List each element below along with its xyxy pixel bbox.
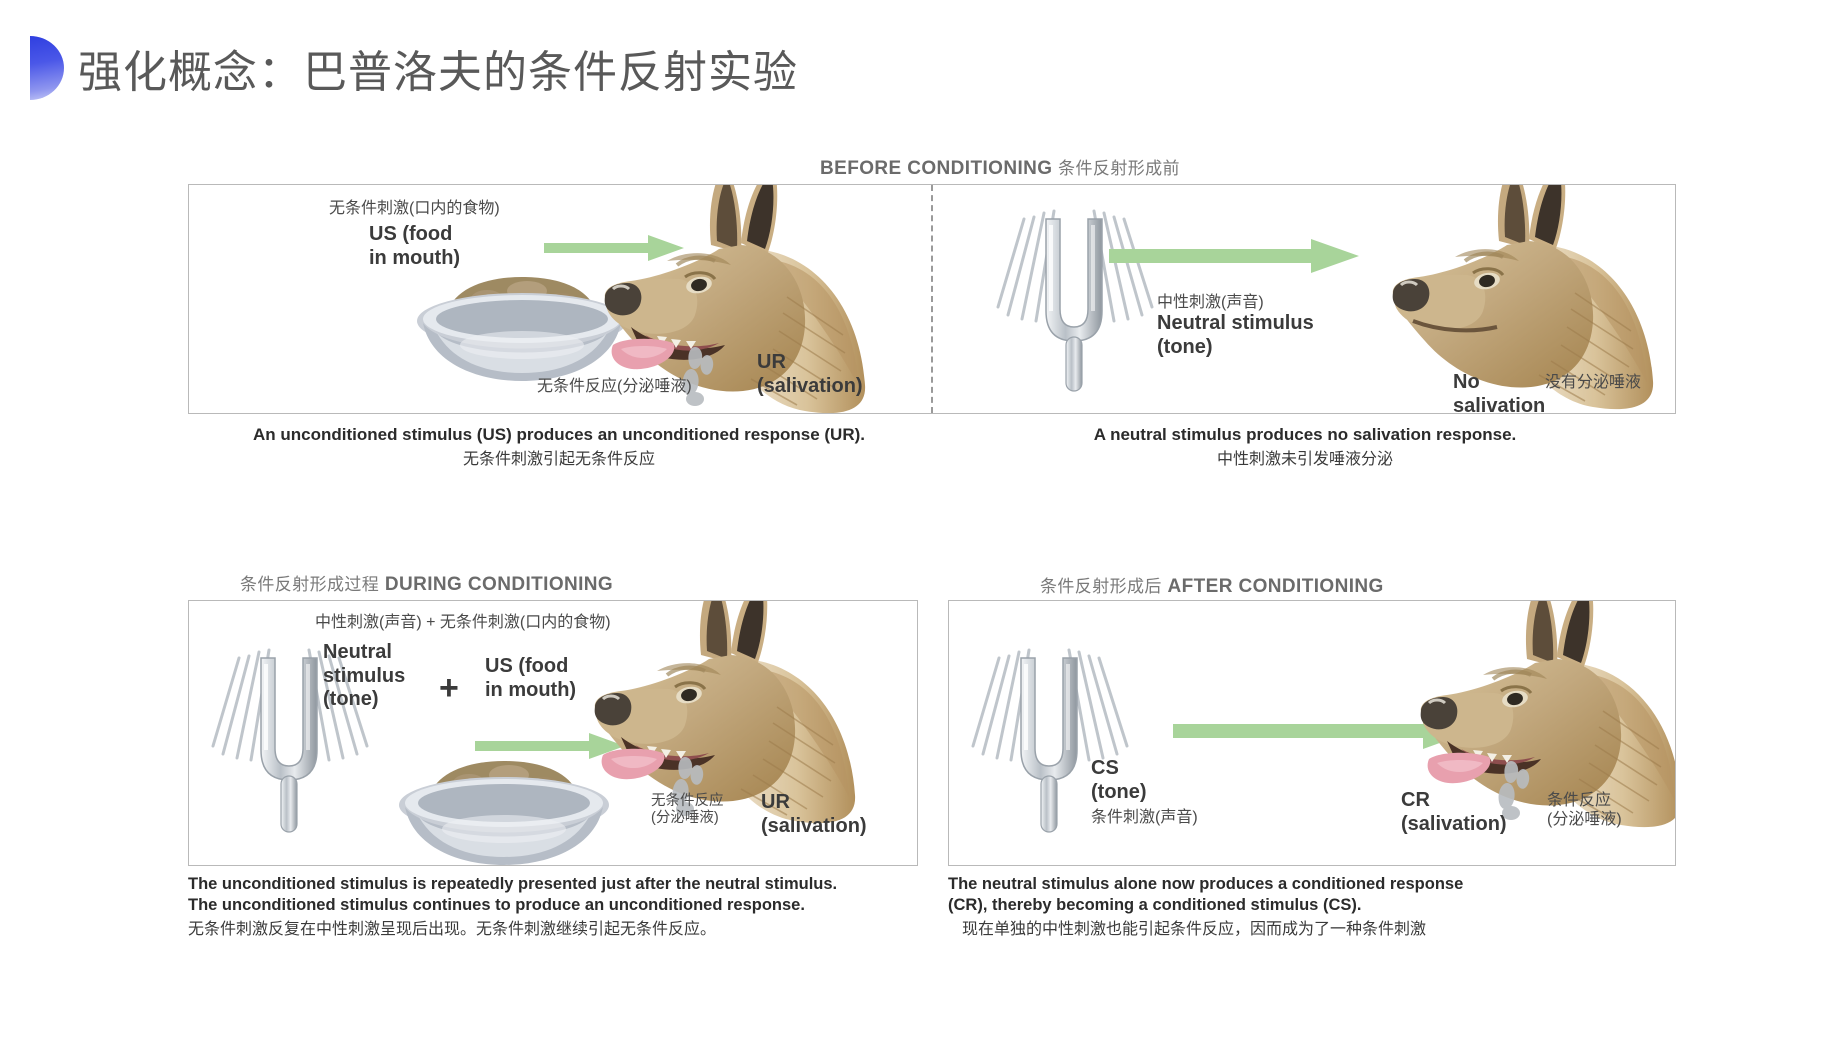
during-caption-cn: 无条件刺激反复在中性刺激呈现后出现。无条件刺激继续引起无条件反应。 bbox=[188, 920, 928, 940]
after-header-en: AFTER CONDITIONING bbox=[1168, 576, 1384, 597]
during-conditioning-panel: 中性刺激(声音) + 无条件刺激(口内的食物) Neutral stimulus… bbox=[188, 600, 918, 866]
during-us-2: in mouth) bbox=[485, 679, 576, 703]
during-header-cn: 条件反射形成过程 bbox=[240, 575, 379, 594]
before-left-caption: An unconditioned stimulus (US) produces … bbox=[188, 424, 930, 470]
before-right-caption-en: A neutral stimulus produces no salivatio… bbox=[1094, 425, 1517, 444]
cr-cn-2: (分泌唾液) bbox=[1547, 810, 1622, 829]
during-ur-cn-2: (分泌唾液) bbox=[651, 810, 724, 827]
during-caption: The unconditioned stimulus is repeatedly… bbox=[188, 874, 928, 940]
title-bar: 强化概念：巴普洛夫的条件反射实验 bbox=[0, 0, 1846, 130]
ur-label-left-cn: 无条件反应(分泌唾液) bbox=[537, 377, 692, 396]
ns-cn: 中性刺激(声音) bbox=[1157, 293, 1314, 312]
cs-en-2: (tone) bbox=[1091, 781, 1198, 805]
before-conditioning-header: BEFORE CONDITIONING 条件反射形成前 bbox=[820, 154, 1180, 180]
during-conditioning-header: 条件反射形成过程 DURING CONDITIONING bbox=[240, 570, 613, 596]
cs-en-1: CS bbox=[1091, 757, 1198, 781]
cr-cn-1: 条件反应 bbox=[1547, 791, 1622, 810]
during-us-label: US (food in mouth) bbox=[485, 655, 576, 702]
cr-label-en: CR (salivation) bbox=[1401, 789, 1507, 836]
us-label-left: 无条件刺激(口内的食物) bbox=[329, 199, 500, 218]
tuning-fork-icon bbox=[984, 195, 1174, 395]
during-us-1: US (food bbox=[485, 655, 576, 679]
during-stim-cn-text: 中性刺激(声音) + 无条件刺激(口内的食物) bbox=[315, 613, 611, 632]
during-ur-cn: 无条件反应 (分泌唾液) bbox=[651, 793, 724, 828]
cs-label: CS (tone) 条件刺激(声音) bbox=[1091, 757, 1198, 827]
during-ns-3: (tone) bbox=[323, 688, 405, 712]
before-right-caption: A neutral stimulus produces no salivatio… bbox=[934, 424, 1676, 470]
during-stimulus-cn: 中性刺激(声音) + 无条件刺激(口内的食物) bbox=[315, 613, 611, 632]
before-conditioning-panel: 无条件刺激(口内的食物) US (food in mouth) bbox=[188, 184, 1676, 414]
cr-label-cn: 条件反应 (分泌唾液) bbox=[1547, 791, 1622, 829]
after-conditioning-header: 条件反射形成后 AFTER CONDITIONING bbox=[1040, 572, 1384, 598]
ur-label-left-en: UR (salivation) bbox=[757, 351, 863, 398]
after-header-cn: 条件反射形成后 bbox=[1040, 577, 1162, 596]
before-header-en: BEFORE CONDITIONING bbox=[820, 158, 1052, 179]
during-ur-cn-1: 无条件反应 bbox=[651, 793, 724, 810]
no-sal-cn: 没有分泌唾液 bbox=[1545, 373, 1641, 392]
pavlov-conditioning-figure: BEFORE CONDITIONING 条件反射形成前 无条件刺激(口内的食物)… bbox=[0, 130, 1846, 1060]
no-salivation-label-en: No salivation bbox=[1453, 371, 1545, 414]
us-label-en-2: in mouth) bbox=[369, 247, 460, 271]
before-right-caption-cn: 中性刺激未引发唾液分泌 bbox=[934, 450, 1676, 470]
plus-sign: + bbox=[439, 669, 459, 708]
us-label-left-en: US (food in mouth) bbox=[369, 223, 460, 270]
during-ur-en-1: UR bbox=[761, 791, 867, 815]
before-header-cn: 条件反射形成前 bbox=[1058, 159, 1180, 178]
ur-cn: 无条件反应(分泌唾液) bbox=[537, 377, 692, 396]
green-arrow-icon bbox=[1109, 239, 1359, 273]
no-sal-en-2: salivation bbox=[1453, 395, 1545, 414]
us-label-cn: 无条件刺激(口内的食物) bbox=[329, 199, 500, 218]
during-ns-1: Neutral bbox=[323, 641, 405, 665]
after-caption: The neutral stimulus alone now produces … bbox=[948, 874, 1688, 940]
during-ur-en-2: (salivation) bbox=[761, 815, 867, 839]
after-caption-cn: 现在单独的中性刺激也能引起条件反应，因而成为了一种条件刺激 bbox=[962, 920, 1688, 940]
no-salivation-label-cn: 没有分泌唾液 bbox=[1545, 373, 1641, 392]
cr-en-2: (salivation) bbox=[1401, 813, 1507, 837]
ur-en-2: (salivation) bbox=[757, 375, 863, 399]
panel-divider bbox=[931, 185, 933, 413]
during-ns-label: Neutral stimulus (tone) bbox=[323, 641, 405, 712]
cs-cn: 条件刺激(声音) bbox=[1091, 808, 1198, 827]
title-accent-shape bbox=[30, 36, 64, 100]
after-caption-en-2: (CR), thereby becoming a conditioned sti… bbox=[948, 896, 1361, 914]
ns-label-right: 中性刺激(声音) Neutral stimulus (tone) bbox=[1157, 293, 1314, 359]
during-ur-en: UR (salivation) bbox=[761, 791, 867, 838]
during-header-en: DURING CONDITIONING bbox=[385, 574, 613, 595]
ns-en-2: (tone) bbox=[1157, 336, 1314, 360]
after-conditioning-panel: CS (tone) 条件刺激(声音) bbox=[948, 600, 1676, 866]
cr-en-1: CR bbox=[1401, 789, 1507, 813]
ns-en-1: Neutral stimulus bbox=[1157, 312, 1314, 336]
page-title: 强化概念：巴普洛夫的条件反射实验 bbox=[78, 36, 798, 100]
during-ns-2: stimulus bbox=[323, 665, 405, 689]
us-label-en-1: US (food bbox=[369, 223, 460, 247]
before-left-caption-cn: 无条件刺激引起无条件反应 bbox=[188, 450, 930, 470]
after-caption-en-1: The neutral stimulus alone now produces … bbox=[948, 875, 1463, 893]
during-caption-en-2: The unconditioned stimulus continues to … bbox=[188, 896, 805, 914]
no-sal-en-1: No bbox=[1453, 371, 1545, 395]
before-left-caption-en: An unconditioned stimulus (US) produces … bbox=[253, 425, 865, 444]
ur-en-1: UR bbox=[757, 351, 863, 375]
during-caption-en-1: The unconditioned stimulus is repeatedly… bbox=[188, 875, 837, 893]
